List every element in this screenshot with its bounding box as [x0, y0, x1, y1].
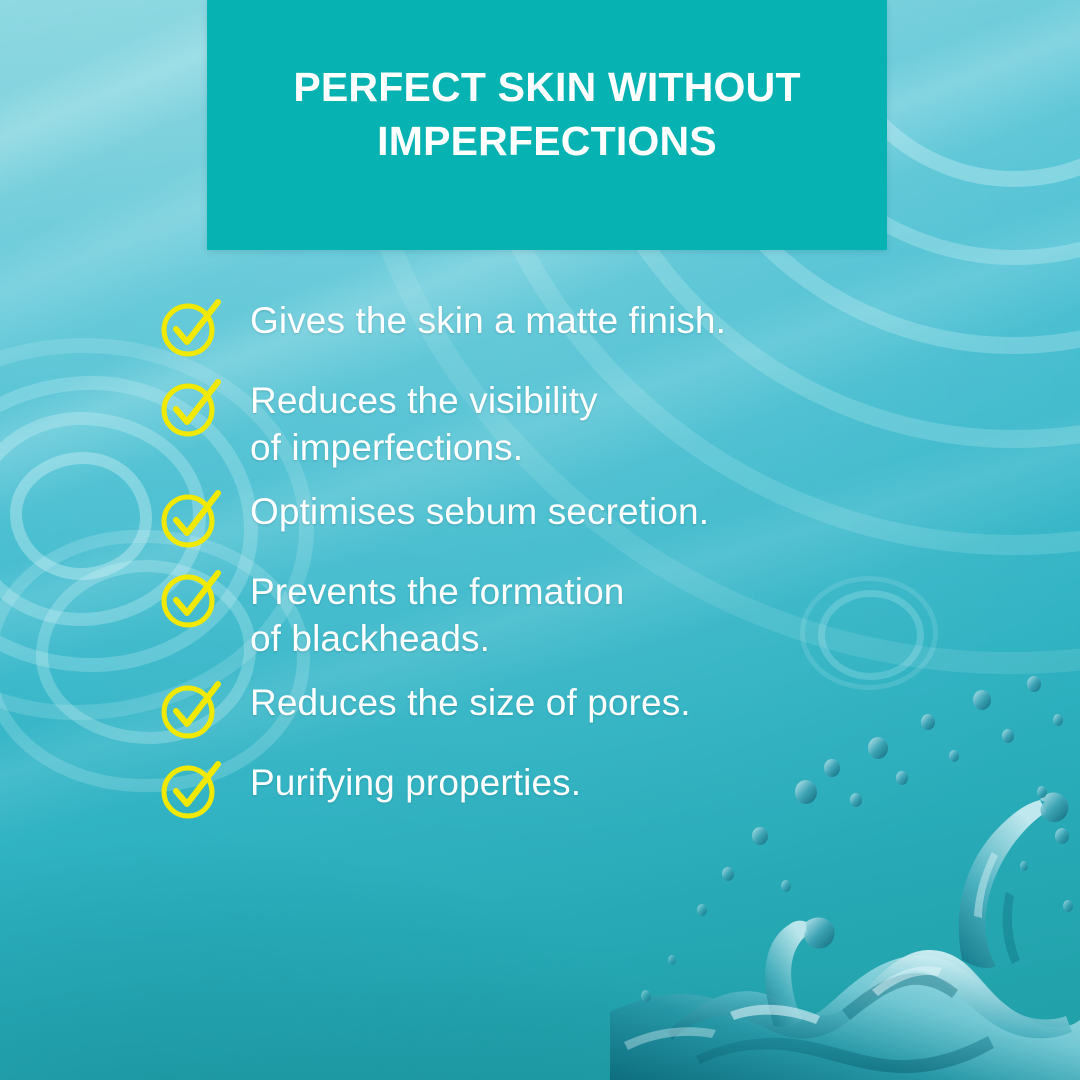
benefit-item-2: Reduces the visibility of imperfections.: [160, 376, 960, 471]
benefit-line: Prevents the formation: [250, 569, 624, 616]
check-circle-icon: [160, 760, 224, 820]
benefit-line: of blackheads.: [250, 616, 624, 663]
benefit-text-6: Purifying properties.: [250, 758, 581, 807]
benefit-line: Reduces the size of pores.: [250, 680, 691, 727]
benefit-line: Purifying properties.: [250, 760, 581, 807]
benefit-item-5: Reduces the size of pores.: [160, 678, 960, 740]
check-circle-icon: [160, 378, 224, 438]
benefit-item-4: Prevents the formation of blackheads.: [160, 567, 960, 662]
header-banner: PERFECT SKIN WITHOUT IMPERFECTIONS: [207, 0, 887, 250]
benefit-text-4: Prevents the formation of blackheads.: [250, 567, 624, 662]
benefits-list: Gives the skin a matte finish. Reduces t…: [160, 296, 960, 838]
check-circle-icon: [160, 569, 224, 629]
check-circle-icon: [160, 680, 224, 740]
benefit-text-3: Optimises sebum secretion.: [250, 487, 709, 536]
page-title-line-2: IMPERFECTIONS: [247, 114, 847, 168]
check-circle-icon: [160, 489, 224, 549]
page-title-line-1: PERFECT SKIN WITHOUT: [247, 60, 847, 114]
benefit-text-5: Reduces the size of pores.: [250, 678, 691, 727]
benefit-item-1: Gives the skin a matte finish.: [160, 296, 960, 358]
benefit-line: Gives the skin a matte finish.: [250, 298, 726, 345]
skincare-benefits-infographic: PERFECT SKIN WITHOUT IMPERFECTIONS Gives…: [0, 0, 1080, 1080]
page-title: PERFECT SKIN WITHOUT IMPERFECTIONS: [247, 60, 847, 190]
benefit-line: Optimises sebum secretion.: [250, 489, 709, 536]
check-circle-icon: [160, 298, 224, 358]
benefit-line: Reduces the visibility: [250, 378, 598, 425]
benefit-item-6: Purifying properties.: [160, 758, 960, 820]
benefit-line: of imperfections.: [250, 425, 598, 472]
benefit-text-2: Reduces the visibility of imperfections.: [250, 376, 598, 471]
benefit-text-1: Gives the skin a matte finish.: [250, 296, 726, 345]
benefit-item-3: Optimises sebum secretion.: [160, 487, 960, 549]
